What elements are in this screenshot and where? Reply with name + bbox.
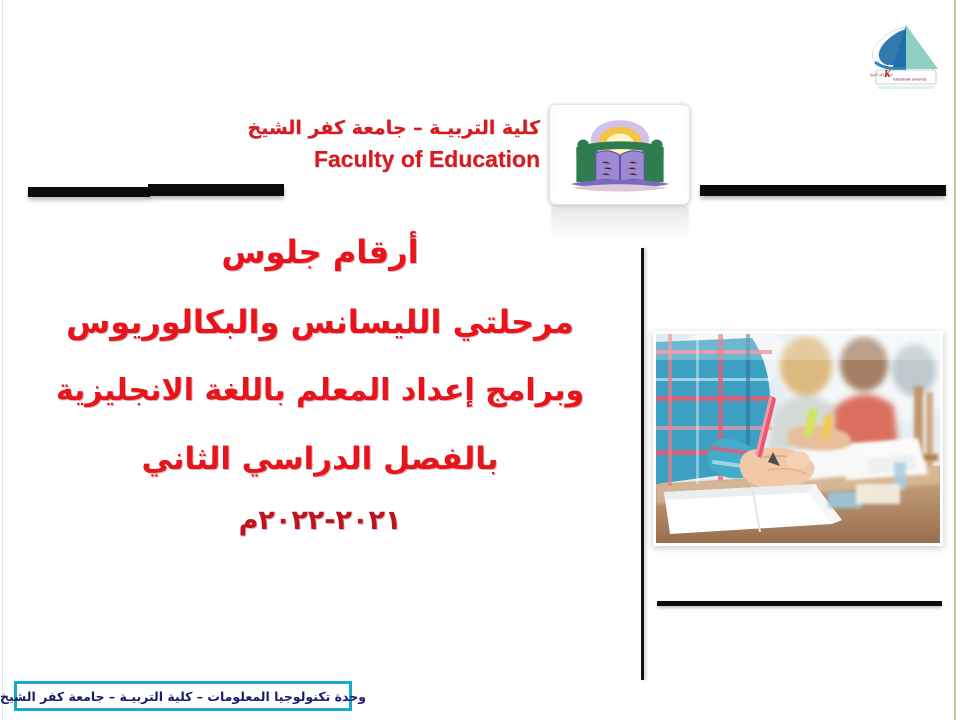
title-line-1: أرقام جلوس: [10, 236, 630, 268]
title-line-4: بالفصل الدراسي الثاني: [10, 444, 630, 475]
faculty-header: كلية التربيـة – جامعة كفر الشيخ Faculty …: [240, 118, 540, 172]
header-rule-left-segment-a: [28, 187, 150, 197]
svg-text:Kafrelsheikh University: Kafrelsheikh University: [893, 77, 927, 81]
slide-title: أرقام جلوس مرحلتي الليسانس والبكالوريوس …: [10, 236, 630, 536]
title-line-3: وبرامج إعداد المعلم باللغة الانجليزية: [10, 376, 630, 406]
students-writing-exam-photo: [653, 331, 943, 546]
header-rule-left-segment-b: [148, 184, 284, 196]
header-rule-right: [700, 185, 946, 196]
open-book-sunrise-icon: [549, 110, 690, 198]
page-left-border: [2, 0, 3, 720]
page-right-border: [954, 0, 956, 720]
footer-banner: وحدة تكنولوجيا المعلومات – كلية التربيـة…: [14, 681, 352, 711]
faculty-name-arabic: كلية التربيـة – جامعة كفر الشيخ: [240, 118, 540, 140]
footer-text: وحدة تكنولوجيا المعلومات – كلية التربيـة…: [0, 689, 366, 704]
kafrelsheikh-university-seal-icon: K جامعة كفر الشيخ Kafrelsheikh Universit…: [862, 17, 950, 90]
academic-year: ٢٠٢١-٢٠٢٢م: [10, 505, 630, 536]
presentation-slide: K جامعة كفر الشيخ Kafrelsheikh Universit…: [0, 0, 960, 720]
vertical-divider: [641, 248, 644, 680]
title-line-2: مرحلتي الليسانس والبكالوريوس: [10, 306, 630, 338]
faculty-logo-card: [549, 104, 690, 205]
svg-text:جامعة كفر الشيخ: جامعة كفر الشيخ: [870, 72, 893, 76]
bottom-right-rule: [657, 601, 942, 606]
faculty-name-english: Faculty of Education: [240, 146, 540, 172]
